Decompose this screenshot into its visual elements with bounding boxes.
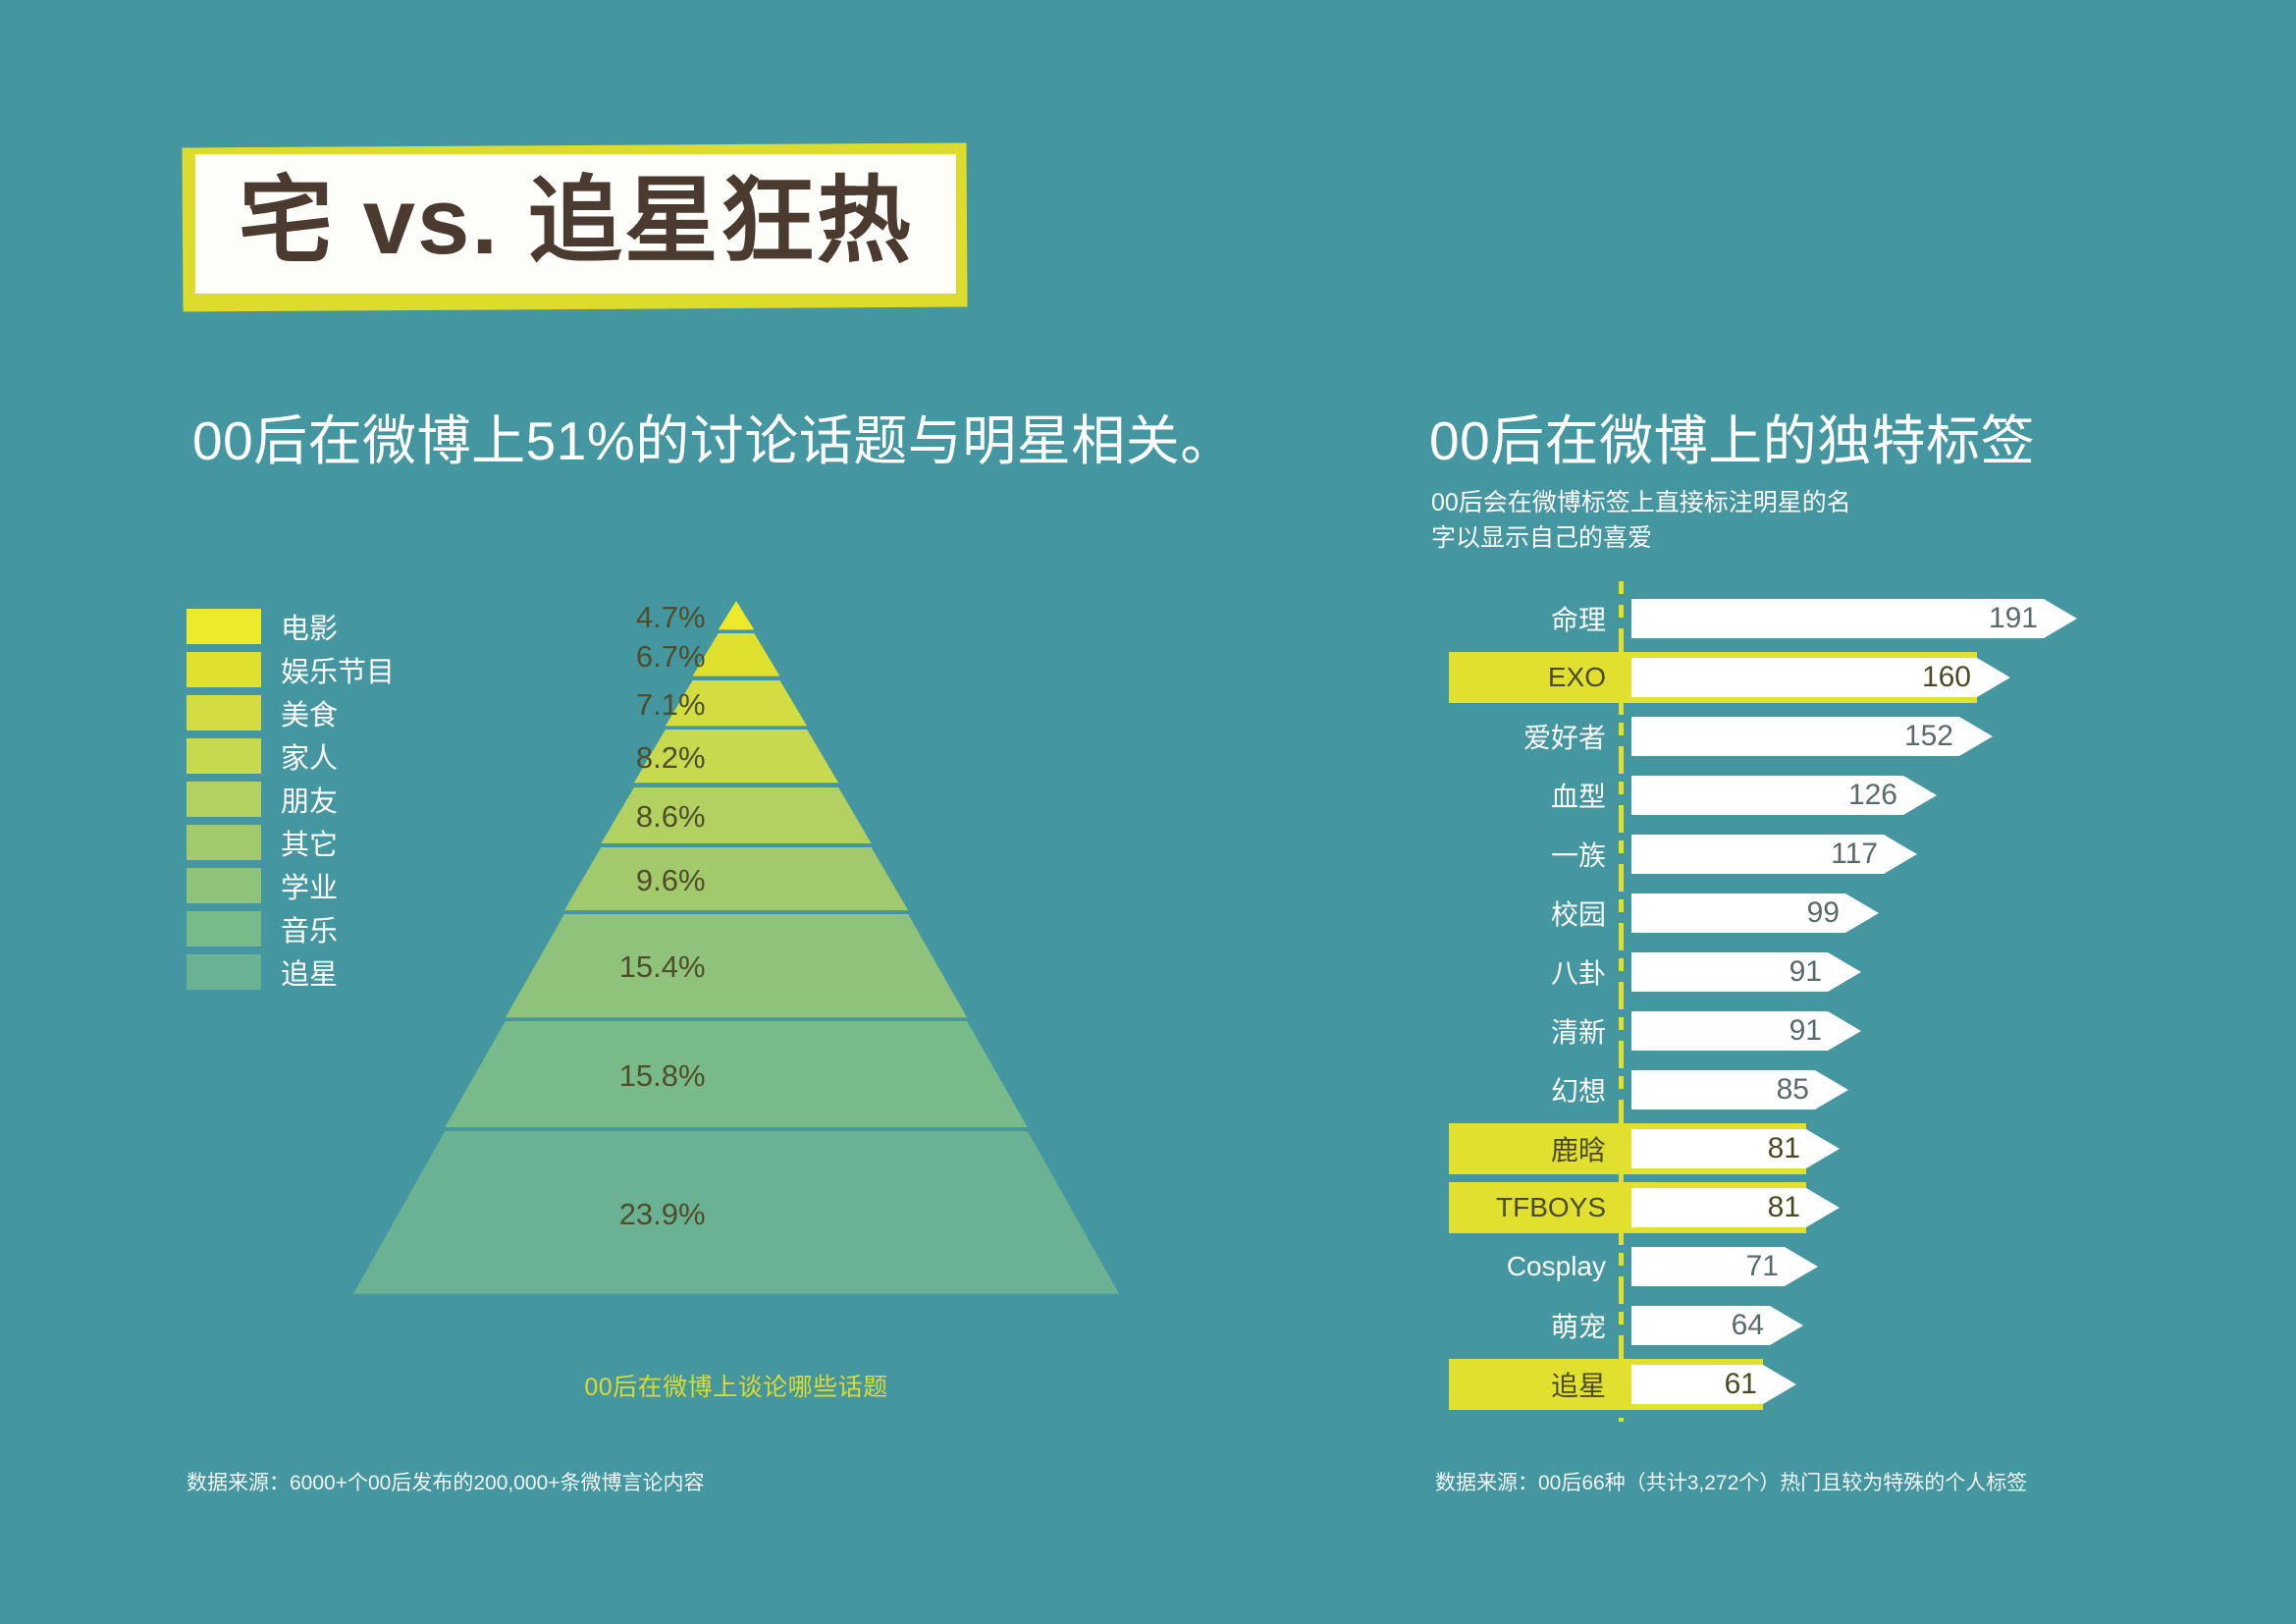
- pyramid-slice-value: 15.8%: [353, 1058, 714, 1094]
- dashed-axis-line: [1610, 1119, 1631, 1178]
- bar-arrow: [1631, 952, 1861, 992]
- legend-swatch: [187, 911, 261, 947]
- legend-swatch: [187, 652, 261, 687]
- bar-row: 爱好者152: [1472, 707, 2077, 766]
- bar-arrow: [1631, 893, 1879, 933]
- legend-item-label: 美食: [281, 692, 338, 733]
- dashed-axis-line: [1610, 884, 1631, 943]
- bar-row: 追星61: [1472, 1355, 2077, 1414]
- page-title: 宅 vs. 追星狂热: [239, 174, 913, 270]
- legend-swatch: [187, 609, 261, 644]
- bar-category-label: 血型: [1472, 776, 1610, 815]
- bar-value-label: 99: [1789, 896, 1840, 930]
- pyramid-slice: 7.1%: [353, 680, 1119, 730]
- legend-swatch: [187, 782, 261, 817]
- bar-value-label: 61: [1706, 1368, 1757, 1401]
- bar-row: 鹿晗81: [1472, 1119, 2077, 1178]
- bar-category-label: 爱好者: [1472, 717, 1610, 756]
- right-panel-subtitle: 00后在微博上的独特标签: [1429, 397, 2035, 475]
- bar-row: 八卦91: [1472, 943, 2077, 1001]
- right-source-note: 数据来源：00后66种（共计3,272个）热门且较为特殊的个人标签: [1435, 1467, 2027, 1496]
- pyramid-slice: 9.6%: [353, 847, 1119, 914]
- pyramid-slice-value: 7.1%: [353, 687, 714, 723]
- legend-item-label: 电影: [281, 606, 338, 647]
- pyramid-slice: 15.8%: [353, 1021, 1119, 1131]
- bar-category-label: 鹿晗: [1472, 1129, 1610, 1168]
- legend-item-label: 家人: [281, 735, 338, 777]
- legend-item-label: 音乐: [281, 908, 338, 949]
- legend-item-label: 学业: [281, 865, 338, 906]
- bar-category-label: TFBOYS: [1472, 1192, 1610, 1223]
- bar-value-label: 191: [1987, 602, 2038, 635]
- bar-row: 萌宠64: [1472, 1296, 2077, 1355]
- bar-value-label: 81: [1749, 1132, 1800, 1165]
- pyramid-slice-value: 15.4%: [353, 949, 714, 985]
- bar-row: 血型126: [1472, 766, 2077, 825]
- pyramid-slice: 6.7%: [353, 633, 1119, 680]
- infographic-page: 宅 vs. 追星狂热 00后在微博上51%的讨论话题与明星相关。 00后在微博上…: [0, 0, 2296, 1624]
- bar-arrow: [1631, 1129, 1840, 1168]
- bar-value-label: 91: [1771, 955, 1822, 989]
- dashed-axis-line: [1610, 1355, 1631, 1414]
- dashed-axis-line: [1610, 1060, 1631, 1119]
- bar-category-label: 追星: [1472, 1365, 1610, 1404]
- bar-category-label: Cosplay: [1472, 1251, 1610, 1282]
- bar-value-label: 160: [1920, 661, 1971, 694]
- bar-arrow: [1631, 1188, 1840, 1227]
- bar-value-label: 117: [1827, 838, 1878, 871]
- bar-value-label: 81: [1749, 1191, 1800, 1224]
- pyramid-slice: 15.4%: [353, 914, 1119, 1021]
- legend-swatch: [187, 738, 261, 774]
- bar-row: EXO160: [1472, 648, 2077, 707]
- legend-item-label: 追星: [281, 951, 338, 993]
- dashed-axis-line: [1610, 943, 1631, 1001]
- pyramid-slice-value: 4.7%: [353, 600, 714, 635]
- left-source-note: 数据来源：6000+个00后发布的200,000+条微博言论内容: [187, 1467, 705, 1496]
- legend-swatch: [187, 868, 261, 903]
- bar-arrow: [1631, 1247, 1818, 1286]
- topic-pyramid-chart: 4.7%6.7%7.1%8.2%8.6%9.6%15.4%15.8%23.9%: [353, 601, 1119, 1298]
- bar-arrow: [1631, 1011, 1861, 1051]
- bar-value-label: 91: [1771, 1014, 1822, 1048]
- bar-row: 清新91: [1472, 1001, 2077, 1060]
- title-block: 宅 vs. 追星狂热: [183, 145, 967, 309]
- pyramid-slice-value: 23.9%: [353, 1197, 714, 1232]
- bar-row: TFBOYS81: [1472, 1178, 2077, 1237]
- legend-swatch: [187, 825, 261, 860]
- legend-item-label: 其它: [281, 822, 338, 863]
- bar-value-label: 85: [1758, 1073, 1809, 1107]
- dashed-axis-line: [1610, 589, 1631, 648]
- pyramid-slice: 8.6%: [353, 787, 1119, 847]
- bar-value-label: 71: [1728, 1250, 1779, 1283]
- dashed-axis-line: [1610, 1178, 1631, 1237]
- legend-swatch: [187, 954, 261, 990]
- bar-row: 一族117: [1472, 825, 2077, 884]
- dashed-axis-line: [1610, 1237, 1631, 1296]
- pyramid-slice: 4.7%: [353, 601, 1119, 633]
- pyramid-slice-value: 6.7%: [353, 639, 714, 675]
- legend-item-label: 朋友: [281, 779, 338, 820]
- bar-value-label: 152: [1902, 720, 1953, 753]
- pyramid-caption: 00后在微博上谈论哪些话题: [353, 1368, 1119, 1403]
- bar-row: 命理191: [1472, 589, 2077, 648]
- left-panel-subtitle: 00后在微博上51%的讨论话题与明星相关。: [192, 397, 1235, 475]
- bar-category-label: EXO: [1472, 662, 1610, 693]
- bar-value-label: 64: [1713, 1309, 1764, 1342]
- dashed-axis-line: [1610, 1296, 1631, 1355]
- bar-value-label: 126: [1846, 779, 1897, 812]
- pyramid-slice-value: 9.6%: [353, 863, 714, 898]
- bar-category-label: 八卦: [1472, 952, 1610, 992]
- pyramid-slice: 23.9%: [353, 1131, 1119, 1298]
- bar-arrow: [1631, 1070, 1848, 1110]
- dashed-axis-line: [1610, 825, 1631, 884]
- dashed-axis-line: [1610, 766, 1631, 825]
- bar-category-label: 萌宠: [1472, 1306, 1610, 1345]
- bar-category-label: 校园: [1472, 893, 1610, 933]
- right-panel-description: 00后会在微博标签上直接标注明星的名 字以显示自己的喜爱: [1431, 486, 1851, 556]
- dashed-axis-line: [1610, 648, 1631, 707]
- dashed-axis-line: [1610, 707, 1631, 766]
- pyramid-slice-value: 8.2%: [353, 740, 714, 776]
- bar-row: 幻想85: [1472, 1060, 2077, 1119]
- dashed-axis-line: [1610, 1001, 1631, 1060]
- bar-row: Cosplay71: [1472, 1237, 2077, 1296]
- pyramid-slice: 8.2%: [353, 730, 1119, 786]
- title-white-panel: 宅 vs. 追星狂热: [195, 154, 956, 294]
- bar-category-label: 清新: [1472, 1011, 1610, 1051]
- bar-category-label: 命理: [1472, 599, 1610, 638]
- tag-bar-chart: 命理191EXO160爱好者152血型126一族117校园99八卦91清新91幻…: [1472, 589, 2077, 1414]
- bar-row: 校园99: [1472, 884, 2077, 943]
- bar-category-label: 一族: [1472, 835, 1610, 874]
- legend-swatch: [187, 695, 261, 731]
- bar-category-label: 幻想: [1472, 1070, 1610, 1110]
- title-yellow-frame: 宅 vs. 追星狂热: [182, 143, 967, 312]
- pyramid-slice-value: 8.6%: [353, 799, 714, 835]
